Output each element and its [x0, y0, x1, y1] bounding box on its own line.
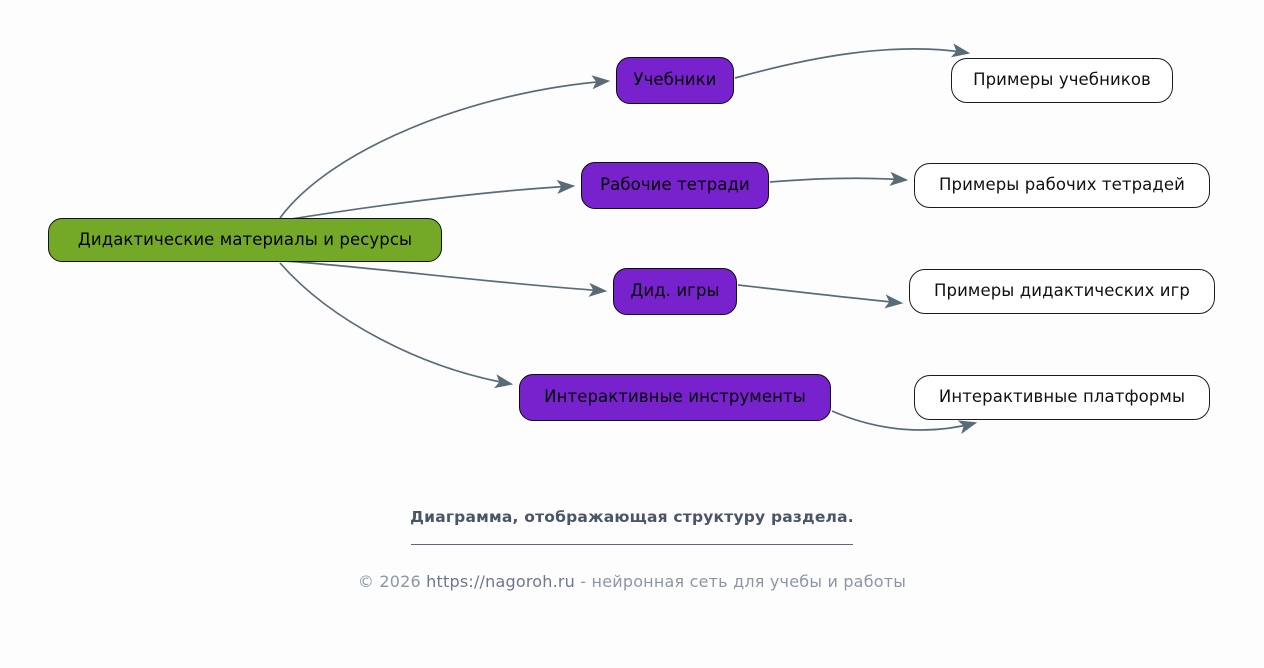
node-leaf-game-examples[interactable]: Примеры дидактических игр: [909, 269, 1215, 314]
node-branch-interactive[interactable]: Интерактивные инструменты: [519, 374, 831, 421]
node-branch-textbooks[interactable]: Учебники: [616, 57, 734, 104]
edge-games-examples: [738, 285, 901, 303]
node-leaf-textbook-examples[interactable]: Примеры учебников: [951, 58, 1173, 103]
edge-root-interactive: [280, 263, 511, 384]
node-leaf-textbook-examples-label: Примеры учебников: [973, 72, 1151, 89]
node-root[interactable]: Дидактические материалы и ресурсы: [48, 218, 442, 262]
footer-copyright-suffix: - нейронная сеть для учебы и работы: [575, 572, 906, 591]
edge-root-games: [285, 261, 605, 291]
node-leaf-workbook-examples-label: Примеры рабочих тетрадей: [939, 177, 1185, 194]
edge-root-workbooks: [285, 186, 573, 220]
caption-title: Диаграмма, отображающая структуру раздел…: [0, 508, 1264, 526]
edge-textbooks-examples: [735, 49, 968, 78]
edge-workbooks-examples: [770, 178, 906, 182]
node-leaf-workbook-examples[interactable]: Примеры рабочих тетрадей: [914, 163, 1210, 208]
node-branch-workbooks-label: Рабочие тетради: [600, 177, 750, 194]
node-branch-interactive-label: Интерактивные инструменты: [544, 389, 806, 406]
footer-copyright-prefix: © 2026: [358, 572, 426, 591]
node-root-label: Дидактические материалы и ресурсы: [78, 232, 412, 249]
node-leaf-interactive-platforms[interactable]: Интерактивные платформы: [914, 375, 1210, 420]
node-branch-games[interactable]: Дид. игры: [613, 268, 737, 315]
diagram-caption: Диаграмма, отображающая структуру раздел…: [0, 508, 1264, 545]
node-leaf-interactive-platforms-label: Интерактивные платформы: [939, 389, 1185, 406]
node-leaf-game-examples-label: Примеры дидактических игр: [934, 283, 1190, 300]
caption-divider: [411, 544, 853, 545]
node-branch-textbooks-label: Учебники: [633, 72, 716, 89]
footer-copyright: © 2026 https://nagoroh.ru - нейронная се…: [0, 572, 1264, 591]
node-branch-games-label: Дид. игры: [630, 283, 719, 300]
footer-url-link[interactable]: https://nagoroh.ru: [426, 572, 575, 591]
node-branch-workbooks[interactable]: Рабочие тетради: [581, 162, 769, 209]
diagram-canvas: Дидактические материалы и ресурсы Учебни…: [0, 0, 1264, 668]
